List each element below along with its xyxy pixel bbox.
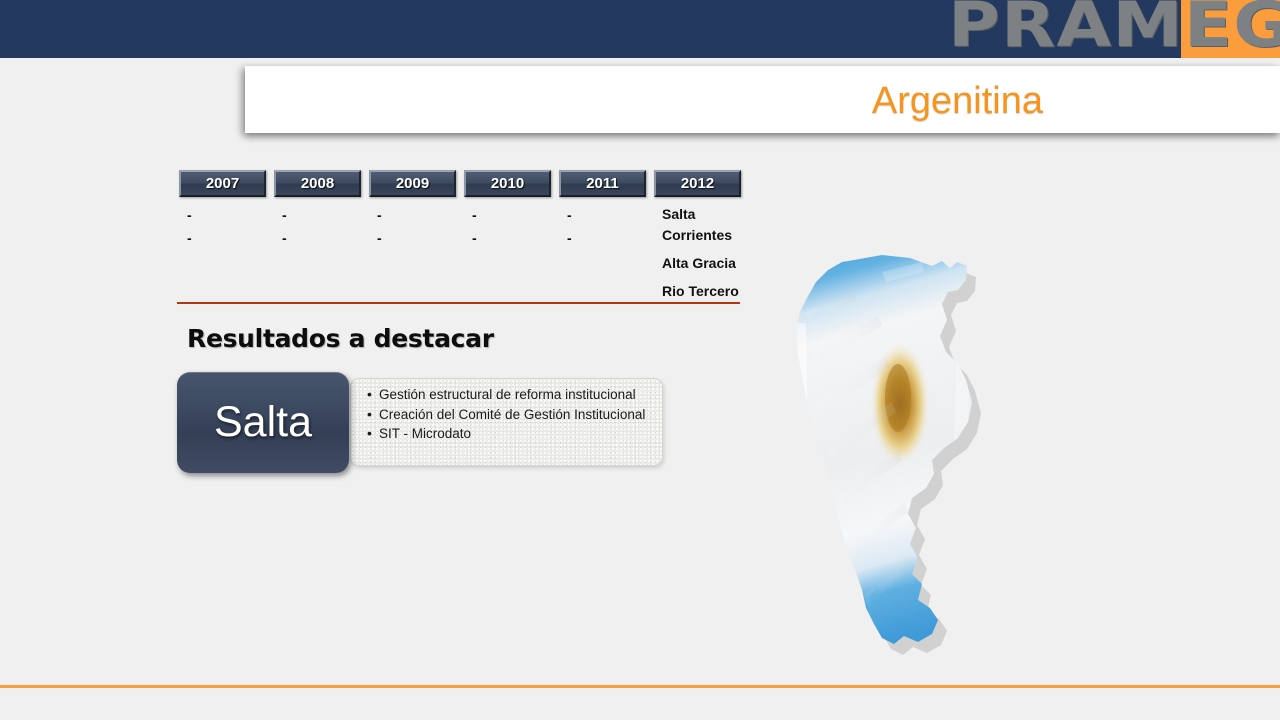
column-entry: - [464, 204, 551, 227]
column-entry: - [179, 227, 266, 250]
column-entry: Salta [654, 204, 774, 225]
province-button-salta[interactable]: Salta [177, 372, 349, 473]
title-band: Argenitina [245, 66, 1280, 133]
header-band: PRAMEG [0, 0, 1280, 58]
column-entry: Alta Gracia [654, 253, 774, 274]
page-title: Argenitina [872, 80, 1043, 123]
argentina-flag-map-icon [782, 252, 1002, 662]
section-divider-rule [177, 302, 740, 304]
province-button-label: Salta [214, 398, 312, 447]
year-column-2008: - - [274, 204, 361, 302]
results-heading: Resultados a destacar [187, 324, 494, 353]
column-entry: - [369, 227, 456, 250]
bullet-item: Gestión estructural de reforma instituci… [379, 386, 652, 405]
year-content-columns: - - - - - - - - - - Salta Corrientes Alt… [179, 204, 774, 302]
year-tab-label: 2010 [491, 175, 524, 192]
brand-logo: PRAMEG [948, 0, 1280, 56]
column-entry: - [369, 204, 456, 227]
column-entry: - [559, 227, 646, 250]
year-tab-label: 2009 [396, 175, 429, 192]
year-column-2011: - - [559, 204, 646, 302]
year-tab-2009[interactable]: 2009 [369, 170, 456, 197]
year-tab-2012[interactable]: 2012 [654, 170, 741, 197]
column-entry: - [559, 204, 646, 227]
column-entry: - [464, 227, 551, 250]
year-tab-label: 2012 [681, 175, 714, 192]
year-tab-2011[interactable]: 2011 [559, 170, 646, 197]
year-tab-2010[interactable]: 2010 [464, 170, 551, 197]
column-entry: Corrientes [654, 225, 774, 246]
year-tab-label: 2007 [206, 175, 239, 192]
year-column-2010: - - [464, 204, 551, 302]
column-entry: Rio Tercero [654, 281, 774, 302]
bullet-item: Creación del Comité de Gestión Instituci… [379, 406, 652, 425]
year-tab-strip: 2007 2008 2009 2010 2011 2012 [179, 170, 741, 197]
year-tab-2007[interactable]: 2007 [179, 170, 266, 197]
year-column-2009: - - [369, 204, 456, 302]
year-tab-label: 2011 [586, 175, 619, 192]
year-column-2012: Salta Corrientes Alta Gracia Rio Tercero [654, 204, 774, 302]
year-column-2007: - - [179, 204, 266, 302]
column-entry: - [179, 204, 266, 227]
year-tab-label: 2008 [301, 175, 334, 192]
column-entry: - [274, 204, 361, 227]
bullet-item: SIT - Microdato [379, 425, 652, 444]
column-entry: - [274, 227, 361, 250]
results-bullet-box: Gestión estructural de reforma instituci… [350, 378, 663, 466]
year-tab-2008[interactable]: 2008 [274, 170, 361, 197]
footer-rule [0, 685, 1280, 688]
